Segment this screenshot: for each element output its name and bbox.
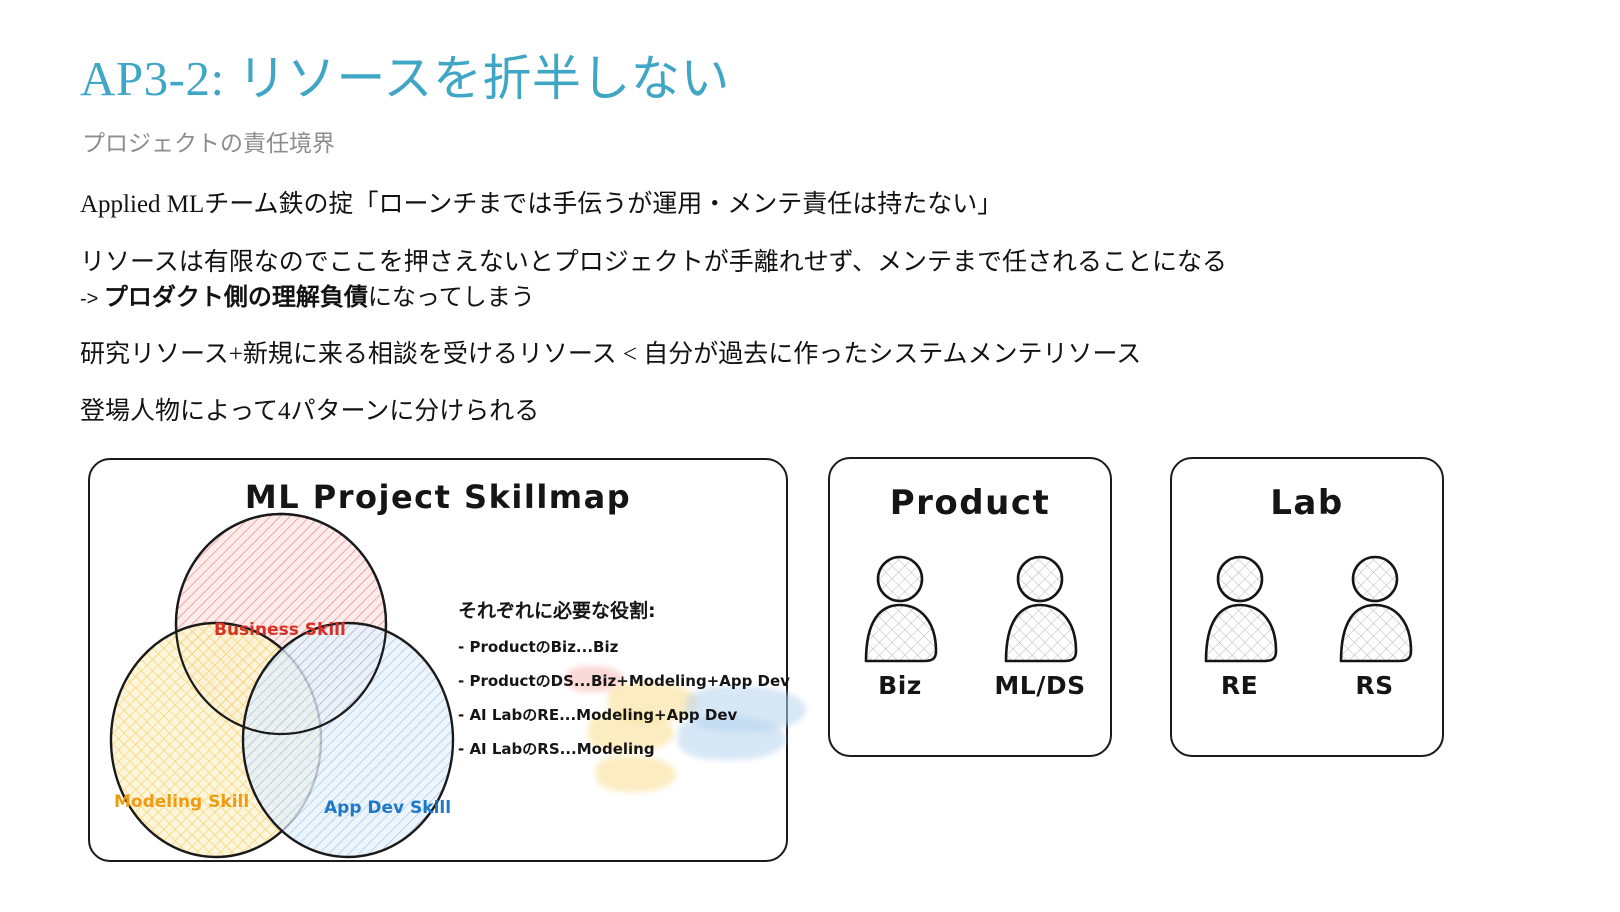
person-icon (1329, 553, 1421, 665)
skillmap-card: ML Project Skillmap (88, 458, 788, 862)
lab-people-row: RE RS (1172, 553, 1442, 700)
body-paragraph-2-emphasis: -> プロダクト側の理解負債になってしまう (80, 280, 535, 317)
body-paragraph-1: Applied MLチーム鉄の掟「ローンチまでは手伝うが運用・メンテ責任は持たな… (80, 187, 1002, 223)
role-list-item: - ProductのDS...Biz+Modeling+App Dev (458, 670, 788, 691)
venn-label-business: Business Skill (214, 620, 346, 640)
person-icon (994, 553, 1086, 665)
emphasis-tail: になってしまう (368, 285, 535, 311)
product-card: Product Biz (828, 457, 1112, 757)
lab-card: Lab RE (1170, 457, 1444, 757)
lab-card-title: Lab (1172, 483, 1442, 523)
venn-diagram: Business Skill Modeling Skill App Dev Sk… (96, 512, 466, 860)
venn-circle-appdev (243, 623, 453, 857)
role-list-item: - AI LabのRE...Modeling+App Dev (458, 704, 788, 725)
product-people-row: Biz ML/DS (830, 553, 1110, 700)
body-paragraph-2: リソースは有限なのでここを押さえないとプロジェクトが手離れせず、メンテまで任され… (80, 245, 1227, 281)
person-re: RE (1194, 553, 1286, 700)
person-icon (1194, 553, 1286, 665)
person-label: Biz (878, 671, 922, 700)
venn-label-modeling: Modeling Skill (114, 792, 249, 812)
arrow-lead: -> (80, 288, 104, 310)
person-rs: RS (1329, 553, 1421, 700)
role-list: それぞれに必要な役割: - ProductのBiz...Biz - Produc… (458, 596, 788, 772)
body-paragraph-3: 研究リソース+新規に来る相談を受けるリソース < 自分が過去に作ったシステムメン… (80, 337, 1141, 373)
person-mlds: ML/DS (994, 553, 1086, 700)
person-label: RE (1221, 671, 1258, 700)
page-title: AP3-2: リソースを折半しない (80, 49, 730, 109)
person-icon (854, 553, 946, 665)
person-biz: Biz (854, 553, 946, 700)
body-paragraph-4: 登場人物によって4パターンに分けられる (80, 394, 539, 430)
emphasis-text: プロダクト側の理解負債 (104, 284, 368, 311)
role-list-item: - ProductのBiz...Biz (458, 636, 788, 657)
role-list-heading: それぞれに必要な役割: (458, 596, 788, 623)
skillmap-title: ML Project Skillmap (90, 478, 786, 516)
highlight-smudge-yellow-3 (596, 756, 676, 792)
venn-label-appdev: App Dev Skill (324, 798, 451, 818)
role-list-item: - AI LabのRS...Modeling (458, 738, 788, 759)
page-subtitle: プロジェクトの責任境界 (82, 128, 335, 158)
person-label: RS (1355, 671, 1393, 700)
person-label: ML/DS (994, 671, 1085, 700)
product-card-title: Product (830, 483, 1110, 523)
